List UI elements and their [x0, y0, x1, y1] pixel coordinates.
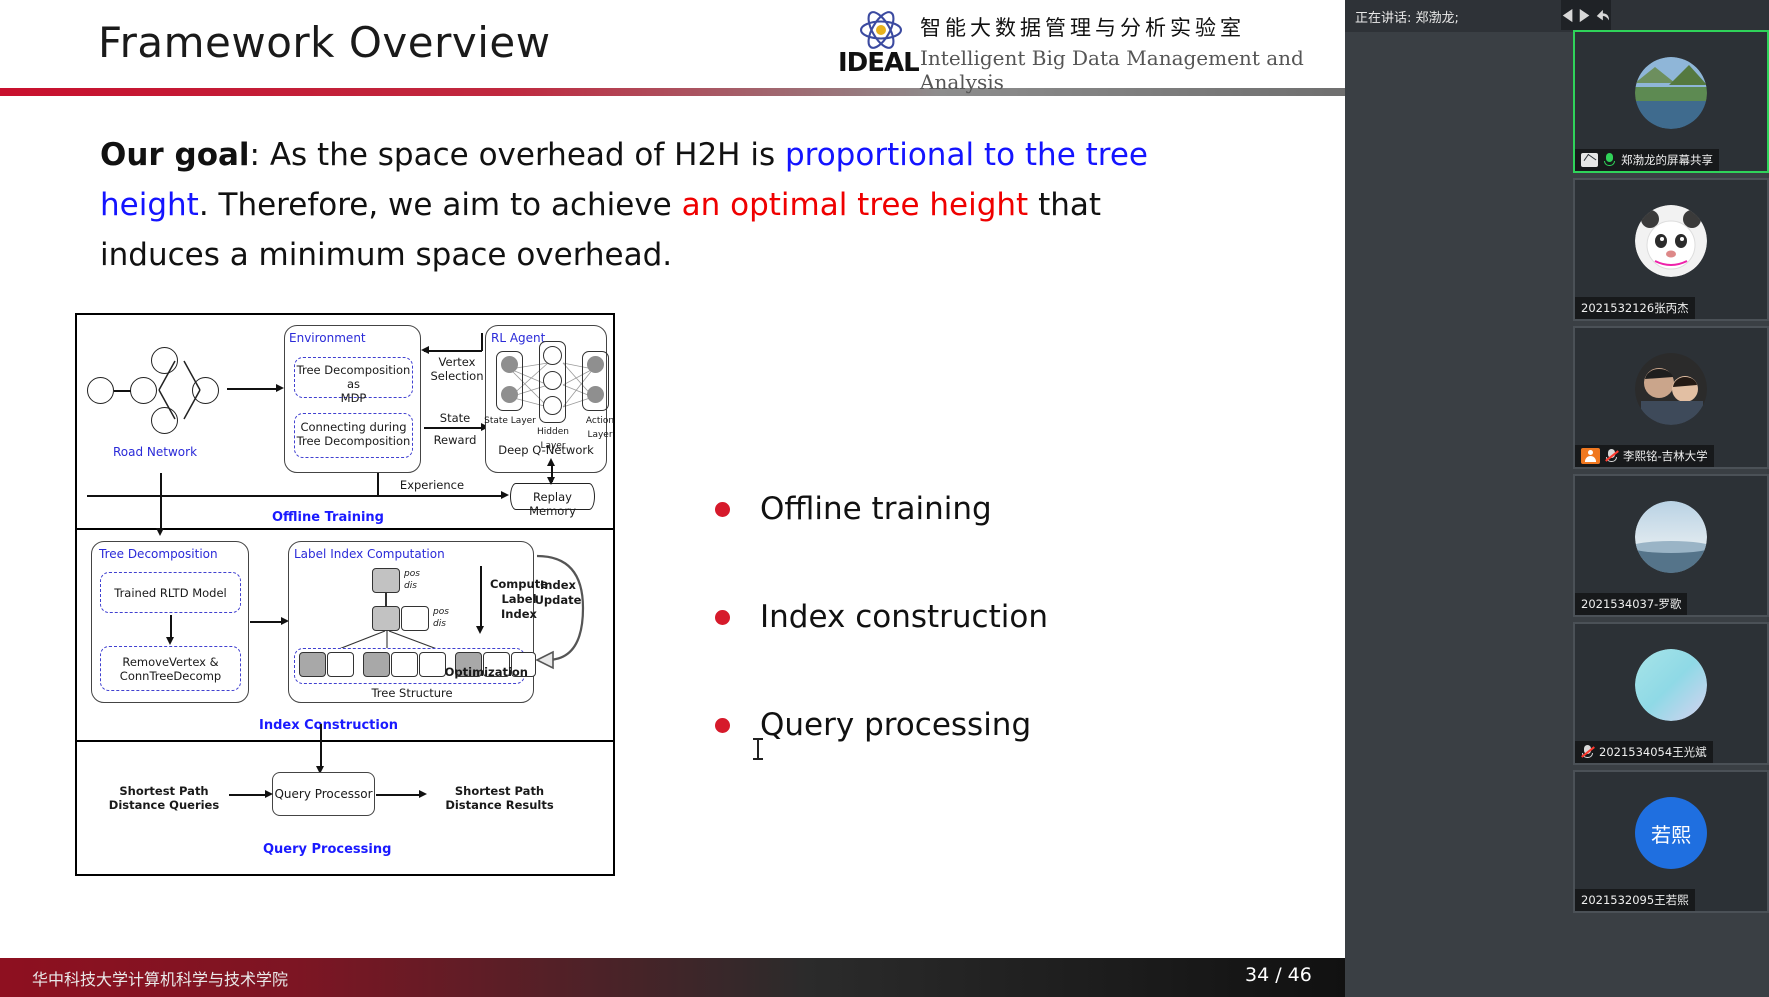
tree-edge [385, 592, 387, 607]
bullet-label: Query processing [760, 707, 1031, 743]
diagram-section-query: Query Processor Shortest Path Distance Q… [77, 742, 613, 878]
avatar [1635, 205, 1707, 277]
framework-diagram: Road Network Environment Tree Decomposit… [75, 313, 615, 876]
index-cell [327, 652, 354, 677]
shared-screen-area: Framework Overview IDEAL 智能大数据管理与分析实验室 I… [0, 0, 1345, 997]
mic-on-icon [1603, 153, 1616, 167]
active-speaker-label: 正在讲话: 郑渤龙; [1355, 7, 1459, 26]
participant-nametag: 郑渤龙的屏幕共享 [1575, 149, 1719, 171]
participant-tile[interactable]: 2021534037-罗歌 [1573, 474, 1769, 617]
participant-name: 2021532095王若熙 [1581, 892, 1689, 908]
participant-name: 2021532126张丙杰 [1581, 300, 1689, 316]
arrow-head-icon [166, 637, 174, 645]
dis-label: dis [404, 579, 430, 593]
list-item: Offline training [715, 455, 1275, 563]
participant-tile[interactable]: 郑渤龙的屏幕共享 [1573, 30, 1769, 173]
participant-name: 2021534037-罗歌 [1581, 596, 1681, 612]
results-label: Shortest Path Distance Results [432, 784, 567, 812]
goal-text-1: : As the space overhead of H2H is [250, 137, 785, 173]
graph-edge [114, 390, 131, 392]
index-update-loop [525, 548, 603, 673]
mic-muted-icon [1605, 449, 1618, 463]
dqn-label: Deep Q-Network [485, 443, 607, 457]
index-update-label: Index Update [534, 578, 582, 608]
mdp-label: Tree Decomposition as MDP [294, 363, 413, 405]
index-cell [391, 652, 418, 677]
arrow-head-icon [547, 477, 555, 485]
arrow [424, 350, 482, 352]
environment-label: Environment [289, 331, 409, 345]
atom-icon [858, 8, 904, 52]
arrow-head-icon [501, 491, 509, 499]
participant-nametag: 2021534037-罗歌 [1575, 593, 1687, 615]
list-item: Query processing [715, 671, 1275, 779]
participant-nametag: 2021532095王若熙 [1575, 889, 1695, 911]
lab-name-en: Intelligent Big Data Management and Anal… [920, 46, 1338, 94]
presentation-slide: Framework Overview IDEAL 智能大数据管理与分析实验室 I… [0, 0, 1345, 958]
arrow [320, 724, 322, 768]
panel-controls[interactable] [1561, 0, 1611, 30]
bullet-dot-icon [715, 610, 730, 625]
arrow [376, 794, 421, 796]
vertex-selection-label: Vertex Selection [429, 355, 485, 383]
undo-arrow-icon[interactable] [1595, 7, 1611, 24]
participant-nametag: 李熙铭-吉林大学 [1575, 445, 1714, 467]
bullet-label: Index construction [760, 599, 1048, 635]
participant-name: 2021534054王光斌 [1599, 744, 1707, 760]
text-cursor [757, 738, 759, 760]
arrow [229, 794, 267, 796]
participant-tile[interactable]: 若熙 2021532095王若熙 [1573, 770, 1769, 913]
neuron [501, 356, 518, 373]
avatar-initials: 若熙 [1651, 819, 1691, 848]
neuron [501, 386, 518, 403]
neuron [543, 396, 562, 415]
participant-name: 郑渤龙的屏幕共享 [1621, 152, 1713, 168]
arrow-head-icon [476, 626, 484, 634]
avatar [1635, 649, 1707, 721]
state-label: State [427, 411, 483, 425]
arrow-head-icon [265, 790, 273, 798]
graph-node [87, 377, 114, 404]
bullet-list: Offline training Index construction Quer… [715, 455, 1275, 779]
page-number: 34 / 46 [1245, 964, 1312, 986]
collapse-right-icon[interactable] [1578, 7, 1591, 24]
diagram-section-index: Tree Decomposition Trained RLTD Model Re… [77, 530, 613, 742]
arrow [250, 621, 282, 623]
footer-school-label: 华中科技大学计算机科学与技术学院 [32, 966, 288, 990]
arrow-head-icon [156, 528, 164, 536]
trained-model-label: Trained RLTD Model [100, 586, 241, 600]
participant-nametag: 2021534054王光斌 [1575, 741, 1713, 763]
queries-label: Shortest Path Distance Queries [99, 784, 229, 812]
experience-label: Experience [387, 478, 477, 492]
tree-structure-label: Tree Structure [357, 686, 467, 700]
screen-share-icon [1581, 153, 1598, 167]
goal-highlight-red: an optimal tree height [682, 187, 1029, 223]
host-icon [1581, 448, 1600, 464]
index-cell [299, 652, 326, 677]
bullet-dot-icon [715, 502, 730, 517]
arrow [170, 615, 172, 639]
neuron [543, 371, 562, 390]
arrow [227, 388, 277, 390]
tree-node [372, 568, 400, 593]
avatar [1635, 353, 1707, 425]
section-label-index: Index Construction [259, 718, 398, 733]
query-processor-label: Query Processor [272, 787, 375, 801]
bullet-label: Offline training [760, 491, 992, 527]
diagram-section-offline: Road Network Environment Tree Decomposit… [77, 315, 613, 530]
participant-tile[interactable]: 李熙铭-吉林大学 [1573, 326, 1769, 469]
participant-tile[interactable]: 2021532126张丙杰 [1573, 178, 1769, 321]
section-label-query: Query Processing [263, 842, 391, 857]
connecting-label: Connecting during Tree Decomposition [294, 420, 413, 448]
neuron [587, 356, 604, 373]
mic-muted-icon [1581, 745, 1594, 759]
meeting-panel: 正在讲话: 郑渤龙; [1345, 0, 1769, 997]
optimization-label: Optimization [432, 665, 528, 679]
replay-memory-label: Replay Memory [510, 490, 595, 518]
active-speaker-bar: 正在讲话: 郑渤龙; [1345, 0, 1769, 32]
avatar: 若熙 [1635, 797, 1707, 869]
arrow-head-icon [547, 458, 555, 466]
arrow [480, 566, 482, 628]
screen: Framework Overview IDEAL 智能大数据管理与分析实验室 I… [0, 0, 1769, 997]
section-label-offline: Offline Training [272, 510, 384, 525]
participant-nametag: 2021532126张丙杰 [1575, 297, 1695, 319]
participant-tile[interactable]: 2021534054王光斌 [1573, 622, 1769, 765]
logo-wordmark: IDEAL [838, 48, 919, 78]
road-network-label: Road Network [85, 445, 225, 459]
slide-footer: 华中科技大学计算机科学与技术学院 34 / 46 [0, 958, 1345, 997]
avatar [1635, 57, 1707, 129]
arrow-head-icon [421, 346, 429, 354]
label-index-label: Label Index Computation [294, 547, 494, 561]
arrow [481, 333, 483, 351]
bullet-dot-icon [715, 718, 730, 733]
collapse-left-icon[interactable] [1561, 7, 1574, 24]
participant-name: 李熙铭-吉林大学 [1623, 448, 1708, 464]
arrow [87, 495, 502, 497]
lab-logo: IDEAL 智能大数据管理与分析实验室 Intelligent Big Data… [838, 6, 1338, 80]
tree-decomposition-label: Tree Decomposition [99, 547, 249, 561]
neuron [587, 386, 604, 403]
arrow-head-icon [419, 790, 427, 798]
lab-name-cn: 智能大数据管理与分析实验室 [920, 12, 1245, 42]
goal-paragraph: Our goal: As the space overhead of H2H i… [100, 130, 1160, 280]
participant-strip[interactable]: 郑渤龙的屏幕共享 [1573, 30, 1769, 997]
graph-edges [137, 345, 217, 440]
goal-text-2: . Therefore, we aim to achieve [199, 187, 682, 223]
arrow [424, 427, 482, 429]
arrow-head-icon [276, 384, 284, 392]
avatar [1635, 501, 1707, 573]
arrow [160, 473, 162, 531]
neuron [543, 346, 562, 365]
goal-lead: Our goal [100, 137, 250, 173]
index-cell [363, 652, 390, 677]
removevertex-label: RemoveVertex & ConnTreeDecomp [100, 655, 241, 683]
action-layer-label: Action Layer [573, 414, 627, 442]
page-title: Framework Overview [98, 18, 551, 67]
list-item: Index construction [715, 563, 1275, 671]
reward-label: Reward [427, 433, 483, 447]
arrow [377, 473, 379, 496]
